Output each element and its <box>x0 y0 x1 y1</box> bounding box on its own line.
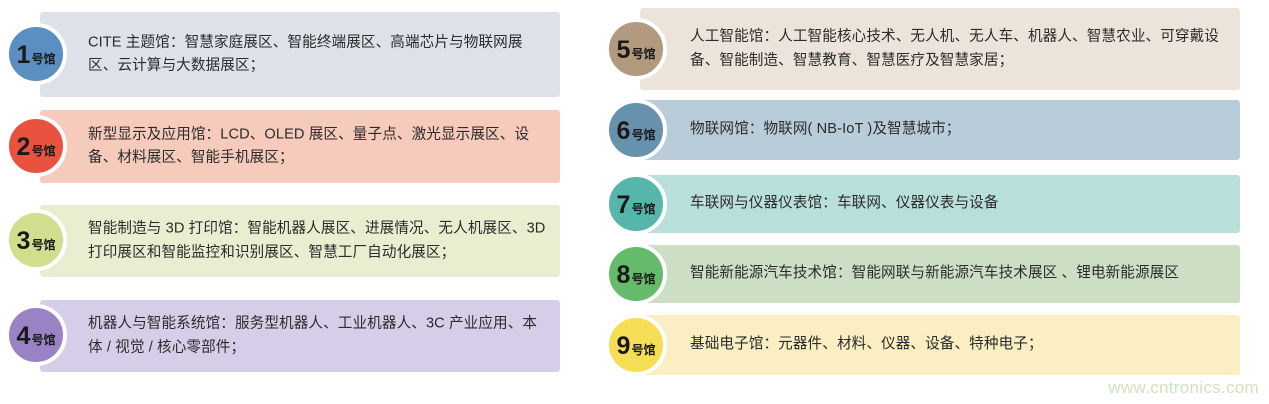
hall-number: 5 <box>617 38 631 63</box>
hall-number: 6 <box>617 119 631 144</box>
hall-number: 3 <box>17 229 31 254</box>
hall-number: 1 <box>17 43 31 68</box>
hall-description: 人工智能馆：人工智能核心技术、无人机、无人车、机器人、智慧农业、可穿戴设备、智能… <box>690 25 1226 72</box>
exhibition-halls-infographic: 1号馆 CITE 主题馆：智慧家庭展区、智能终端展区、高端芯片与物联网展区、云计… <box>0 0 1269 404</box>
hall-row[interactable]: 5号馆 人工智能馆：人工智能核心技术、无人机、无人车、机器人、智慧农业、可穿戴设… <box>600 8 1240 90</box>
hall-number: 8 <box>617 263 631 288</box>
hall-badge-inner: 8号馆 <box>617 263 656 288</box>
hall-badge-inner: 7号馆 <box>617 193 656 218</box>
hall-row[interactable]: 6号馆 物联网馆：物联网( NB-IoT )及智慧城市； <box>600 100 1240 160</box>
hall-number: 9 <box>617 334 631 359</box>
hall-badge-inner: 9号馆 <box>617 334 656 359</box>
hall-badge[interactable]: 5号馆 <box>605 18 667 80</box>
hall-row[interactable]: 7号馆 车联网与仪器仪表馆：车联网、仪器仪表与设备 <box>600 175 1240 233</box>
hall-number: 4 <box>17 324 31 349</box>
hall-number-suffix: 号馆 <box>631 129 655 141</box>
hall-description: 物联网馆：物联网( NB-IoT )及智慧城市； <box>690 118 1226 142</box>
hall-badge-inner: 1号馆 <box>17 43 56 68</box>
hall-badge[interactable]: 8号馆 <box>605 243 667 305</box>
hall-description: 新型显示及应用馆：LCD、OLED 展区、量子点、激光显示展区、设备、材料展区、… <box>88 123 546 170</box>
hall-badge[interactable]: 3号馆 <box>5 209 67 271</box>
hall-badge-inner: 5号馆 <box>617 38 656 63</box>
hall-number-suffix: 号馆 <box>31 239 55 251</box>
hall-description: 车联网与仪器仪表馆：车联网、仪器仪表与设备 <box>690 192 1226 216</box>
hall-badge[interactable]: 1号馆 <box>5 23 67 85</box>
hall-badge[interactable]: 7号馆 <box>605 173 667 235</box>
hall-badge-inner: 2号馆 <box>17 135 56 160</box>
hall-row[interactable]: 2号馆 新型显示及应用馆：LCD、OLED 展区、量子点、激光显示展区、设备、材… <box>0 110 560 183</box>
hall-number-suffix: 号馆 <box>31 145 55 157</box>
hall-number: 2 <box>17 135 31 160</box>
hall-number-suffix: 号馆 <box>631 48 655 60</box>
hall-description: 基础电子馆：元器件、材料、仪器、设备、特种电子； <box>690 333 1226 357</box>
hall-description: CITE 主题馆：智慧家庭展区、智能终端展区、高端芯片与物联网展区、云计算与大数… <box>88 31 546 78</box>
watermark-cntronics: www.cntronics.com <box>1108 378 1259 398</box>
hall-badge-inner: 6号馆 <box>617 119 656 144</box>
hall-badge[interactable]: 9号馆 <box>605 314 667 376</box>
hall-row[interactable]: 4号馆 机器人与智能系统馆：服务型机器人、工业机器人、3C 产业应用、本体 / … <box>0 300 560 372</box>
hall-row[interactable]: 3号馆 智能制造与 3D 打印馆：智能机器人展区、进展情况、无人机展区、3D 打… <box>0 205 560 277</box>
hall-description: 机器人与智能系统馆：服务型机器人、工业机器人、3C 产业应用、本体 / 视觉 /… <box>88 312 546 359</box>
hall-number: 7 <box>617 193 631 218</box>
hall-badge[interactable]: 2号馆 <box>5 115 67 177</box>
halls-column-right: 5号馆 人工智能馆：人工智能核心技术、无人机、无人车、机器人、智慧农业、可穿戴设… <box>600 0 1269 404</box>
hall-number-suffix: 号馆 <box>631 273 655 285</box>
hall-number-suffix: 号馆 <box>631 203 655 215</box>
hall-number-suffix: 号馆 <box>631 344 655 356</box>
hall-number-suffix: 号馆 <box>31 53 55 65</box>
hall-badge[interactable]: 6号馆 <box>605 99 667 161</box>
hall-row[interactable]: 1号馆 CITE 主题馆：智慧家庭展区、智能终端展区、高端芯片与物联网展区、云计… <box>0 12 560 97</box>
hall-badge-inner: 3号馆 <box>17 229 56 254</box>
hall-badge-inner: 4号馆 <box>17 324 56 349</box>
hall-number-suffix: 号馆 <box>31 334 55 346</box>
halls-column-left: 1号馆 CITE 主题馆：智慧家庭展区、智能终端展区、高端芯片与物联网展区、云计… <box>0 0 600 404</box>
hall-row[interactable]: 9号馆 基础电子馆：元器件、材料、仪器、设备、特种电子； <box>600 315 1240 375</box>
hall-badge[interactable]: 4号馆 <box>5 304 67 366</box>
hall-description: 智能制造与 3D 打印馆：智能机器人展区、进展情况、无人机展区、3D 打印展区和… <box>88 217 546 264</box>
hall-row[interactable]: 8号馆 智能新能源汽车技术馆：智能网联与新能源汽车技术展区 、锂电新能源展区 <box>600 245 1240 303</box>
hall-description: 智能新能源汽车技术馆：智能网联与新能源汽车技术展区 、锂电新能源展区 <box>690 262 1226 286</box>
